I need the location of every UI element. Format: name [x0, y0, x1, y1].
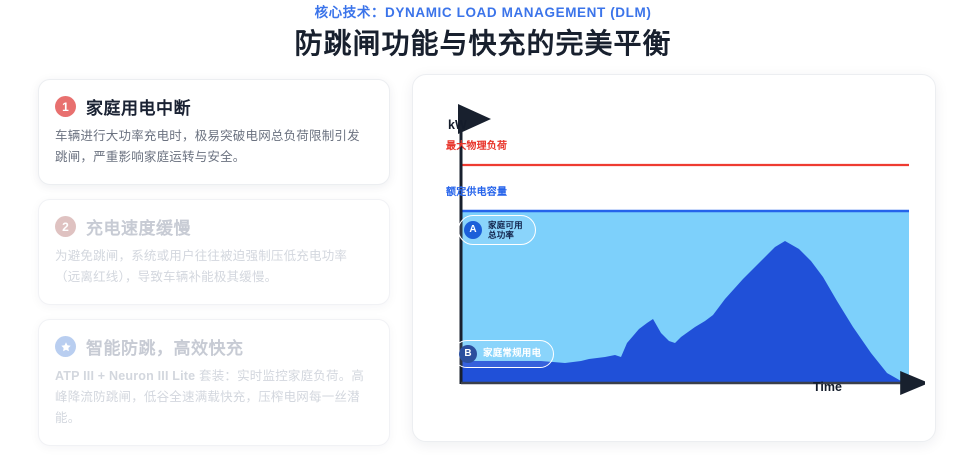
legend-pill-b-key: B	[459, 345, 477, 363]
star-icon	[55, 336, 76, 357]
feature-card-3[interactable]: 智能防跳，高效快充 ATP III + Neuron III Lite 套装：实…	[38, 319, 390, 446]
dlm-chart-panel: kW Time 最大物理负荷 额定供电容量 A 家庭可用 总功率 B 家庭常规用…	[412, 74, 936, 442]
legend-pill-a[interactable]: A 家庭可用 总功率	[458, 215, 536, 245]
rated-supply-capacity-label: 额定供电容量	[446, 183, 507, 198]
x-axis-label: Time	[813, 380, 842, 394]
feature-card-3-title: 智能防跳，高效快充	[86, 334, 244, 359]
feature-card-3-desc-strong: ATP III + Neuron III Lite	[55, 369, 195, 383]
feature-card-2-desc: 为避免跳闸，系统或用户往往被迫强制压低充电功率（远离红线），导致车辆补能极其缓慢…	[55, 246, 371, 288]
feature-card-3-head: 智能防跳，高效快充	[55, 334, 371, 359]
chart-inner: kW Time 最大物理负荷 额定供电容量 A 家庭可用 总功率 B 家庭常规用…	[413, 75, 935, 441]
header-eyebrow: 核心技术：DYNAMIC LOAD MANAGEMENT (DLM)	[0, 4, 966, 22]
feature-card-1[interactable]: 1 家庭用电中断 车辆进行大功率充电时，极易突破电网总负荷限制引发跳闸，严重影响…	[38, 79, 390, 185]
legend-pill-b[interactable]: B 家庭常规用电	[453, 340, 554, 368]
number-badge-1: 1	[55, 96, 76, 117]
feature-card-1-title: 家庭用电中断	[86, 94, 191, 119]
legend-pill-a-label: 家庭可用 总功率	[488, 220, 523, 240]
feature-card-2[interactable]: 2 充电速度缓慢 为避免跳闸，系统或用户往往被迫强制压低充电功率（远离红线），导…	[38, 199, 390, 305]
feature-card-1-head: 1 家庭用电中断	[55, 94, 371, 119]
page-header: 核心技术：DYNAMIC LOAD MANAGEMENT (DLM) 防跳闸功能…	[0, 0, 966, 62]
number-badge-2: 2	[55, 216, 76, 237]
max-physical-load-label: 最大物理负荷	[446, 137, 507, 152]
content-area: 1 家庭用电中断 车辆进行大功率充电时，极易突破电网总负荷限制引发跳闸，严重影响…	[0, 62, 966, 446]
feature-card-3-desc: ATP III + Neuron III Lite 套装：实时监控家庭负荷。高峰…	[55, 366, 371, 429]
legend-pill-b-label: 家庭常规用电	[483, 349, 541, 359]
page-title: 防跳闸功能与快充的完美平衡	[0, 26, 966, 62]
feature-card-list: 1 家庭用电中断 车辆进行大功率充电时，极易突破电网总负荷限制引发跳闸，严重影响…	[38, 74, 390, 446]
y-axis-label: kW	[448, 118, 467, 132]
load-area-chart	[413, 75, 925, 443]
feature-card-2-title: 充电速度缓慢	[86, 214, 191, 239]
feature-card-1-desc: 车辆进行大功率充电时，极易突破电网总负荷限制引发跳闸，严重影响家庭运转与安全。	[55, 126, 371, 168]
feature-card-2-head: 2 充电速度缓慢	[55, 214, 371, 239]
legend-pill-a-key: A	[464, 221, 482, 239]
